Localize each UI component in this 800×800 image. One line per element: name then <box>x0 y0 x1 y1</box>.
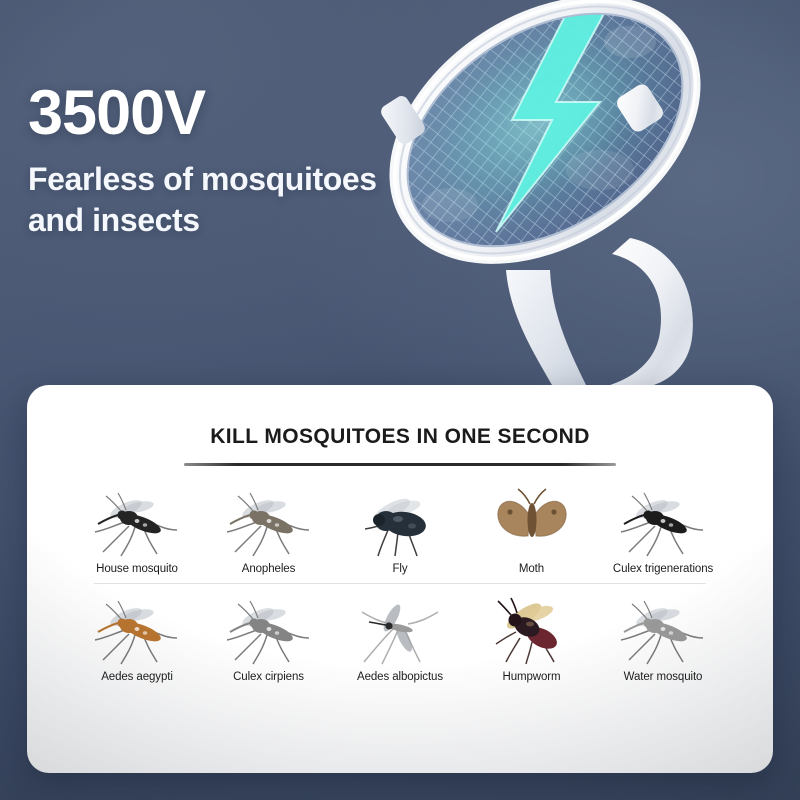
insect-label: Culex trigenerations <box>613 563 713 575</box>
insect-cell: House mosquito <box>73 486 201 575</box>
insect-cell: Fly <box>336 486 464 575</box>
moth-icon <box>480 486 584 558</box>
insect-label: Culex cirpiens <box>233 671 304 683</box>
mosquito-culex-cirpiens-icon <box>217 594 321 666</box>
insect-row-2: Aedes aegypti Culex cirpiens Aedes albop… <box>27 594 773 683</box>
insect-chart-card: KILL MOSQUITOES IN ONE SECOND House mosq… <box>27 385 773 773</box>
insect-row-1: House mosquito Anopheles Fly Moth <box>27 486 773 575</box>
insect-cell: Aedes albopictus <box>336 594 464 683</box>
insect-cell: Aedes aegypti <box>73 594 201 683</box>
insect-label: Humpworm <box>503 671 561 683</box>
insect-cell: Anopheles <box>205 486 333 575</box>
insect-label: Aedes albopictus <box>357 671 443 683</box>
wasp-humpworm-icon <box>480 594 584 666</box>
mosquito-aedes-aegypti-icon <box>85 594 189 666</box>
tagline-line-2: and insects <box>28 200 498 241</box>
insect-cell: Culex cirpiens <box>205 594 333 683</box>
mosquito-water-icon <box>611 594 715 666</box>
insect-cell: Culex trigenerations <box>599 486 727 575</box>
insect-cell: Water mosquito <box>599 594 727 683</box>
mosquito-culex-icon <box>611 486 715 558</box>
title-underline <box>184 463 616 466</box>
mosquito-albopictus-icon <box>348 594 452 666</box>
mosquito-striped-icon <box>85 486 189 558</box>
insect-label: Aedes aegypti <box>101 671 173 683</box>
tagline: Fearless of mosquitoes and insects <box>28 159 498 241</box>
headline-block: 3500V Fearless of mosquitoes and insects <box>28 82 498 241</box>
insect-label: Fly <box>392 563 407 575</box>
card-title: KILL MOSQUITOES IN ONE SECOND <box>27 425 773 449</box>
row-divider <box>94 583 706 584</box>
insect-cell: Moth <box>468 486 596 575</box>
insect-label: Water mosquito <box>624 671 703 683</box>
voltage-label: 3500V <box>28 82 498 145</box>
mosquito-anopheles-icon <box>217 486 321 558</box>
fly-icon <box>348 486 452 558</box>
insect-label: House mosquito <box>96 563 178 575</box>
insect-label: Anopheles <box>242 563 295 575</box>
tagline-line-1: Fearless of mosquitoes <box>28 159 498 200</box>
insect-label: Moth <box>519 563 544 575</box>
swatter-handle <box>506 238 693 394</box>
insect-cell: Humpworm <box>468 594 596 683</box>
